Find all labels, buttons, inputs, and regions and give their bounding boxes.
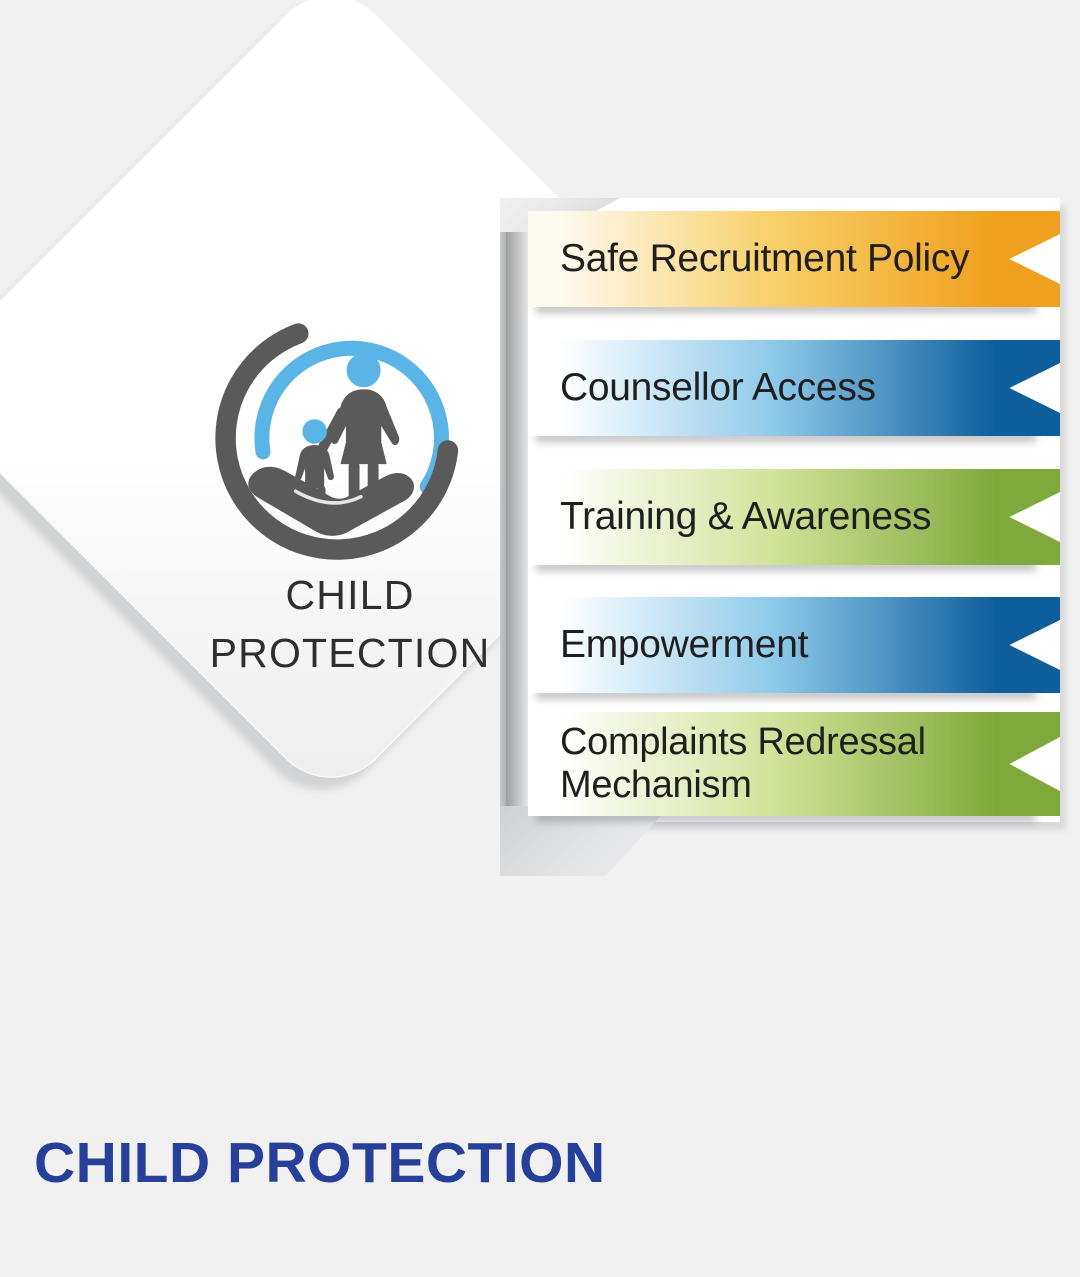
banner-4[interactable]: Empowerment: [528, 597, 1060, 693]
page-title: CHILD PROTECTION: [34, 1130, 606, 1196]
banner-label: Training & Awareness: [528, 496, 1001, 538]
banner-label: Empowerment: [528, 624, 878, 666]
banner-5[interactable]: Complaints Redressal Mechanism: [528, 712, 1060, 816]
logo-wordmark-line-2: PROTECTION: [170, 624, 530, 682]
banner-3[interactable]: Training & Awareness: [528, 469, 1060, 565]
hand-holding-parent-and-child-icon: [214, 290, 486, 562]
banner-label: Safe Recruitment Policy: [528, 238, 1039, 280]
panel-spine: [506, 212, 528, 810]
caption-bar: CHILD PROTECTION: [0, 1010, 1080, 1277]
banner-label: Counsellor Access: [528, 367, 946, 409]
logo-wordmark-line-1: CHILD: [170, 566, 530, 624]
logo-wordmark: CHILD PROTECTION: [170, 566, 530, 682]
banner-2[interactable]: Counsellor Access: [528, 340, 1060, 436]
child-protection-logo: CHILD PROTECTION: [170, 290, 530, 690]
banner-label: Complaints Redressal Mechanism: [528, 721, 996, 806]
banner-1[interactable]: Safe Recruitment Policy: [528, 211, 1060, 307]
infographic-stage: CHILD PROTECTION Safe Recruitment Policy…: [0, 0, 1080, 1010]
